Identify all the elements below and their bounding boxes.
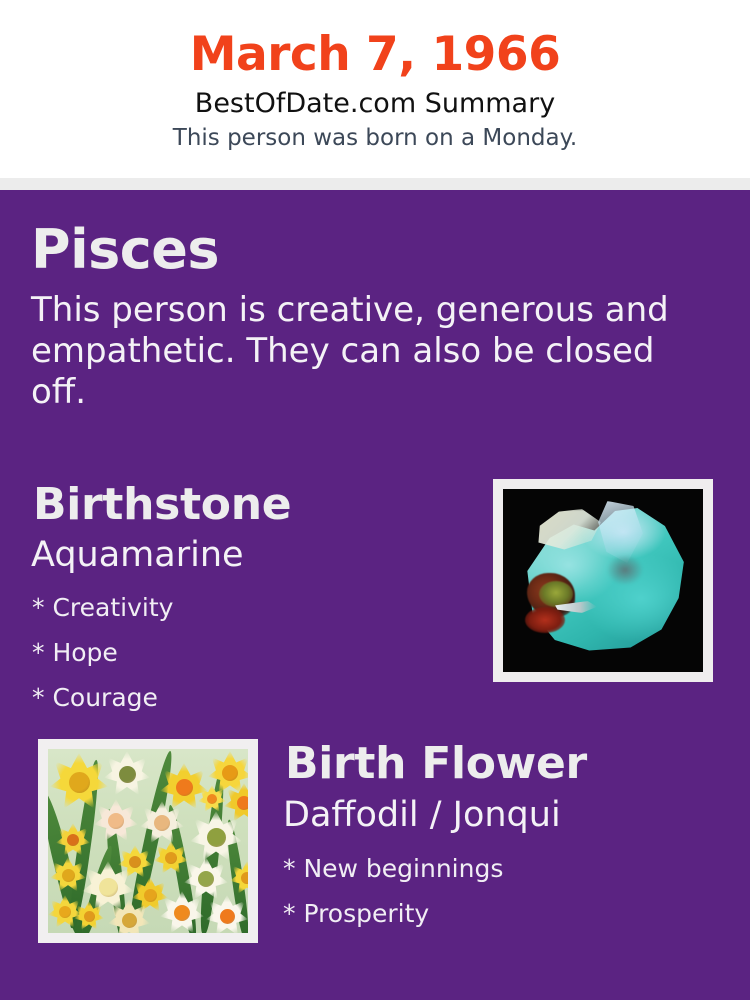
details-panel: Pisces This person is creative, generous… xyxy=(0,190,750,1000)
corona-cup-shape xyxy=(207,794,217,804)
card-header: March 7, 1966 BestOfDate.com Summary Thi… xyxy=(0,0,750,178)
daffodil-bloom xyxy=(206,895,248,933)
list-item: * Hope xyxy=(32,630,173,675)
birth-flower-name: Daffodil / Jonqui xyxy=(283,794,561,836)
crystal-inclusion-red xyxy=(525,607,565,633)
corona-cup-shape xyxy=(220,909,235,924)
zodiac-description: This person is creative, generous and em… xyxy=(31,290,711,413)
daffodil-bloom xyxy=(94,799,138,843)
daffodil-bloom xyxy=(154,841,188,875)
birth-flower-image xyxy=(48,749,248,933)
daffodil-bloom xyxy=(50,753,108,811)
crystal-inclusion-olive xyxy=(539,581,573,607)
birthstone-traits-list: * Creativity * Hope * Courage xyxy=(32,585,173,720)
birthstone-image-frame xyxy=(493,479,713,682)
daffodil-bloom xyxy=(140,801,184,845)
corona-cup-shape xyxy=(198,871,214,887)
corona-cup-shape xyxy=(108,813,124,829)
birthstone-name: Aquamarine xyxy=(31,534,244,576)
corona-cup-shape xyxy=(59,906,71,918)
site-summary-label: BestOfDate.com Summary xyxy=(0,87,750,121)
crystal-shadow-patch xyxy=(607,555,643,585)
daffodil-bloom xyxy=(56,823,90,857)
corona-cup-shape xyxy=(176,779,193,796)
daffodil-bloom xyxy=(108,899,150,933)
header-divider xyxy=(0,178,750,190)
corona-cup-shape xyxy=(207,828,226,847)
corona-cup-shape xyxy=(69,772,90,793)
list-item: * Creativity xyxy=(32,585,173,630)
birth-flower-traits-list: * New beginnings * Prosperity xyxy=(283,846,503,936)
corona-cup-shape xyxy=(165,852,177,864)
daffodil-bloom xyxy=(198,785,226,813)
corona-cup-shape xyxy=(99,878,118,897)
corona-cup-shape xyxy=(237,796,248,810)
corona-cup-shape xyxy=(129,856,141,868)
birth-flower-image-frame xyxy=(38,739,258,943)
daffodil-bloom xyxy=(74,901,104,931)
corona-cup-shape xyxy=(144,889,157,902)
daffodil-bloom xyxy=(190,811,242,863)
list-item: * New beginnings xyxy=(283,846,503,891)
zodiac-sign-title: Pisces xyxy=(31,221,219,279)
list-item: * Courage xyxy=(32,675,173,720)
list-item: * Prosperity xyxy=(283,891,503,936)
corona-cup-shape xyxy=(154,815,170,831)
daffodil-bloom xyxy=(50,857,86,893)
corona-cup-shape xyxy=(122,913,137,928)
corona-cup-shape xyxy=(222,765,238,781)
corona-cup-shape xyxy=(174,905,190,921)
daffodil-bloom xyxy=(104,751,150,797)
summary-card: March 7, 1966 BestOfDate.com Summary Thi… xyxy=(0,0,750,1000)
born-day-note: This person was born on a Monday. xyxy=(0,123,750,153)
daffodil-bloom xyxy=(160,891,204,933)
birthstone-image xyxy=(503,489,703,672)
corona-cup-shape xyxy=(67,834,79,846)
birthstone-heading: Birthstone xyxy=(33,479,291,531)
corona-cup-shape xyxy=(241,872,248,884)
corona-cup-shape xyxy=(84,911,95,922)
page-title: March 7, 1966 xyxy=(0,26,750,84)
birth-flower-heading: Birth Flower xyxy=(285,738,587,790)
corona-cup-shape xyxy=(119,766,136,783)
corona-cup-shape xyxy=(62,869,75,882)
